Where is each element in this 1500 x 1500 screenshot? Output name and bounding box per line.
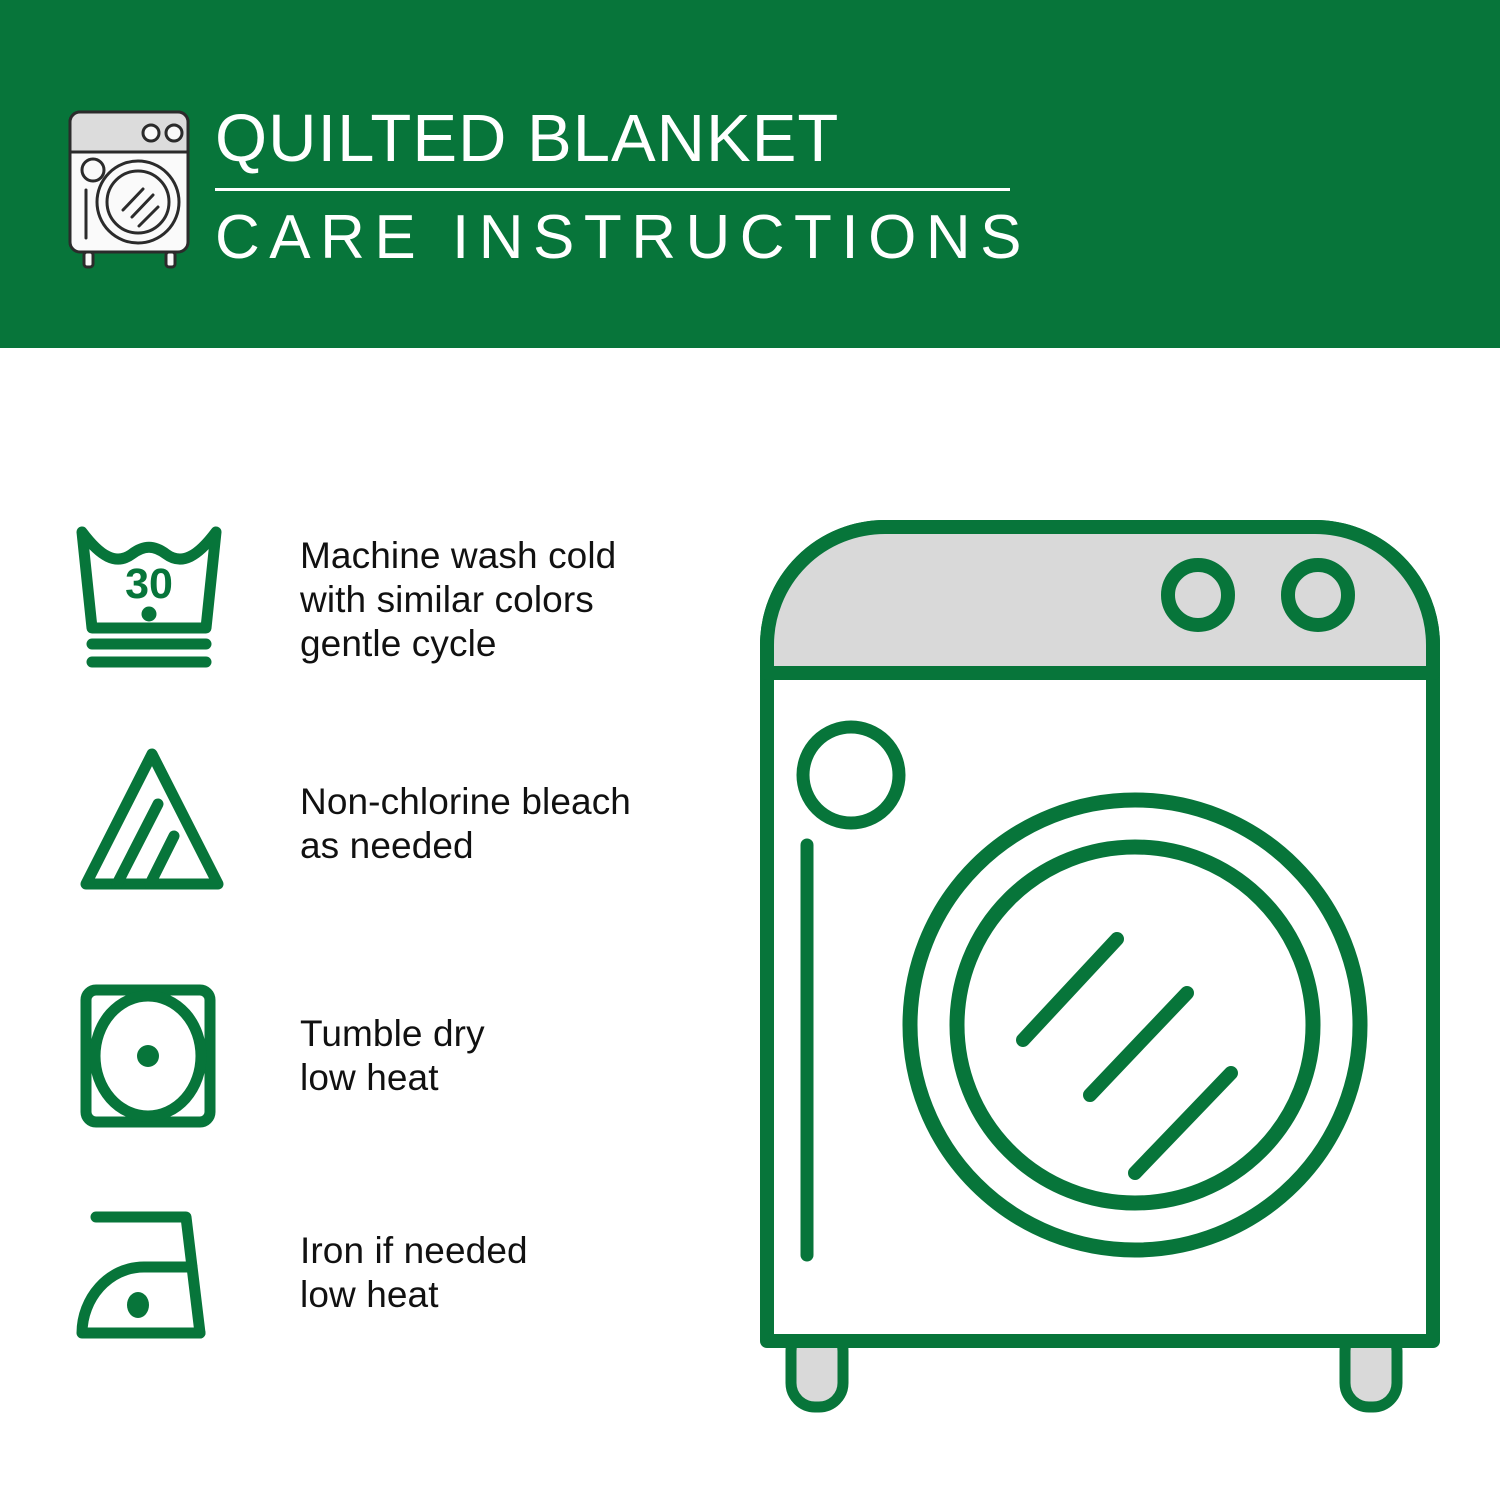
care-text-machine-wash: Machine wash cold with similar colors ge… <box>300 534 616 666</box>
care-text-tumble-dry: Tumble dry low heat <box>300 1012 485 1100</box>
care-row-machine-wash: 30 Machine wash cold with similar colors… <box>70 520 730 680</box>
care-text-iron: Iron if needed low heat <box>300 1229 528 1317</box>
header-banner: QUILTED BLANKET CARE INSTRUCTIONS <box>0 0 1500 348</box>
tumble-dry-low-icon <box>70 976 240 1136</box>
washer-knob-right <box>1288 565 1348 625</box>
iron-low-heat-icon <box>70 1193 240 1353</box>
care-row-bleach: Non-chlorine bleach as needed <box>70 744 730 904</box>
washing-machine-icon <box>62 104 208 269</box>
page-subtitle: CARE INSTRUCTIONS <box>215 202 1015 274</box>
care-row-tumble-dry: Tumble dry low heat <box>70 976 730 1136</box>
care-row-iron: Iron if needed low heat <box>70 1193 730 1353</box>
front-load-washing-machine-illustration <box>735 495 1465 1425</box>
care-text-bleach: Non-chlorine bleach as needed <box>300 780 631 868</box>
title-divider <box>215 188 1010 191</box>
page-title: QUILTED BLANKET <box>215 100 1015 178</box>
non-chlorine-bleach-icon <box>70 744 240 904</box>
care-instructions-list: 30 Machine wash cold with similar colors… <box>0 348 740 1500</box>
washer-knob-left <box>1168 565 1228 625</box>
wash-temperature-label: 30 <box>125 560 173 608</box>
machine-wash-30-gentle-icon: 30 <box>70 520 240 680</box>
header-title-block: QUILTED BLANKET CARE INSTRUCTIONS <box>215 100 1015 274</box>
